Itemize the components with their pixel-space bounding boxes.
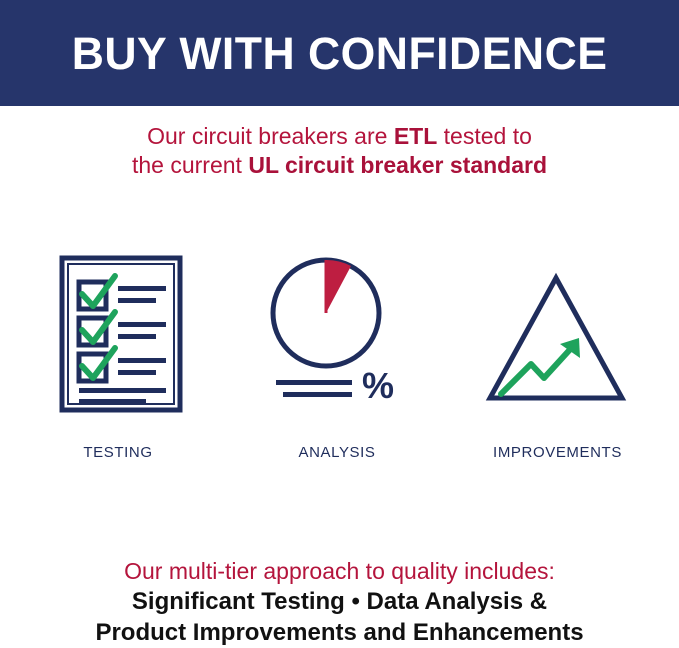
subtitle-line-1-pre: Our circuit breakers are [147,123,394,149]
feature-item-improvements [470,252,645,417]
checklist-icon [38,252,198,417]
subtitle-line-2-pre: the current [132,152,248,178]
footer-lead-text: Our multi-tier approach to quality inclu… [0,556,679,586]
feature-item-testing [38,252,198,417]
subtitle-line-2: the current UL circuit breaker standard [0,151,679,180]
footer-bold-line-1: Significant Testing • Data Analysis & [0,586,679,617]
feature-icons-row: % [0,252,679,417]
header-banner: BUY WITH CONFIDENCE [0,0,679,106]
footer-block: Our multi-tier approach to quality inclu… [0,556,679,648]
footer-bold-line-2: Product Improvements and Enhancements [0,617,679,648]
percent-symbol: % [362,365,394,406]
feature-item-analysis: % [262,252,412,417]
feature-label-testing: TESTING [38,444,198,461]
subtitle-ul-emphasis: UL circuit breaker standard [248,152,547,178]
feature-label-analysis: ANALYSIS [262,444,412,461]
subtitle-block: Our circuit breakers are ETL tested to t… [0,122,679,180]
pie-chart-icon: % [262,252,412,417]
growth-triangle-icon [470,252,645,417]
page-title: BUY WITH CONFIDENCE [72,31,608,76]
subtitle-line-1-post: tested to [437,123,532,149]
feature-labels-row: TESTING ANALYSIS IMPROVEMENTS [0,444,679,468]
subtitle-line-1: Our circuit breakers are ETL tested to [0,122,679,151]
feature-label-improvements: IMPROVEMENTS [470,444,645,461]
subtitle-etl-emphasis: ETL [394,123,437,149]
